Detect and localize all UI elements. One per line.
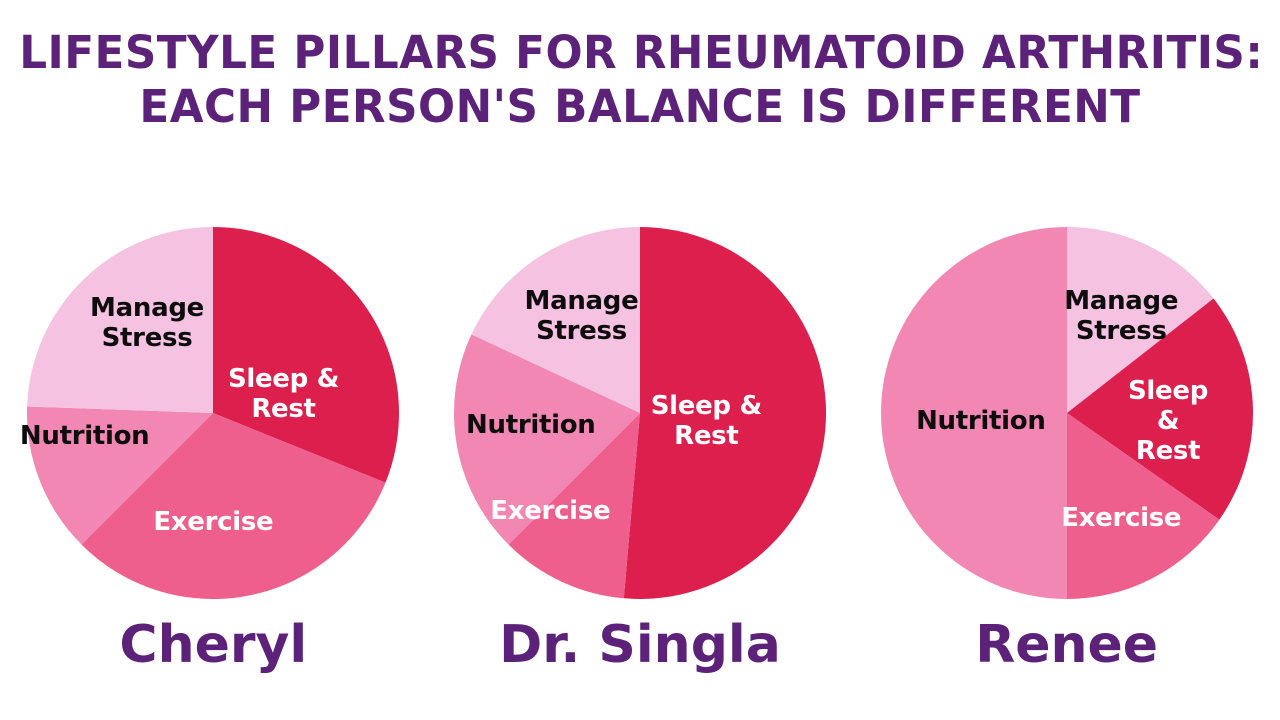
pie-slice-nutrition	[881, 227, 1067, 599]
pie-chart-dr-singla: Sleep & RestExerciseNutritionManage Stre…	[445, 218, 835, 608]
chart-card-cheryl: Sleep & RestExerciseNutritionManage Stre…	[13, 218, 413, 676]
pie-slice-sleep-rest	[624, 227, 826, 599]
person-name-renee: Renee	[975, 614, 1158, 676]
page-title: Lifestyle Pillars for Rheumatoid Arthrit…	[0, 26, 1280, 134]
page-title-line-2: Each Person's Balance is Different	[19, 80, 1261, 134]
pie-chart-renee: Manage StressSleep & RestExerciseNutriti…	[872, 218, 1262, 608]
pie-svg-cheryl	[18, 218, 408, 608]
pie-chart-cheryl: Sleep & RestExerciseNutritionManage Stre…	[18, 218, 408, 608]
pie-svg-renee	[872, 218, 1262, 608]
person-name-cheryl: Cheryl	[119, 614, 307, 676]
page-title-line-1: Lifestyle Pillars for Rheumatoid Arthrit…	[19, 26, 1261, 80]
chart-card-dr-singla: Sleep & RestExerciseNutritionManage Stre…	[440, 218, 840, 676]
pie-slice-manage-stress	[27, 227, 213, 413]
pie-chart-row: Sleep & RestExerciseNutritionManage Stre…	[0, 218, 1280, 688]
person-name-dr-singla: Dr. Singla	[499, 614, 781, 676]
pie-svg-dr-singla	[445, 218, 835, 608]
chart-card-renee: Manage StressSleep & RestExerciseNutriti…	[867, 218, 1267, 676]
